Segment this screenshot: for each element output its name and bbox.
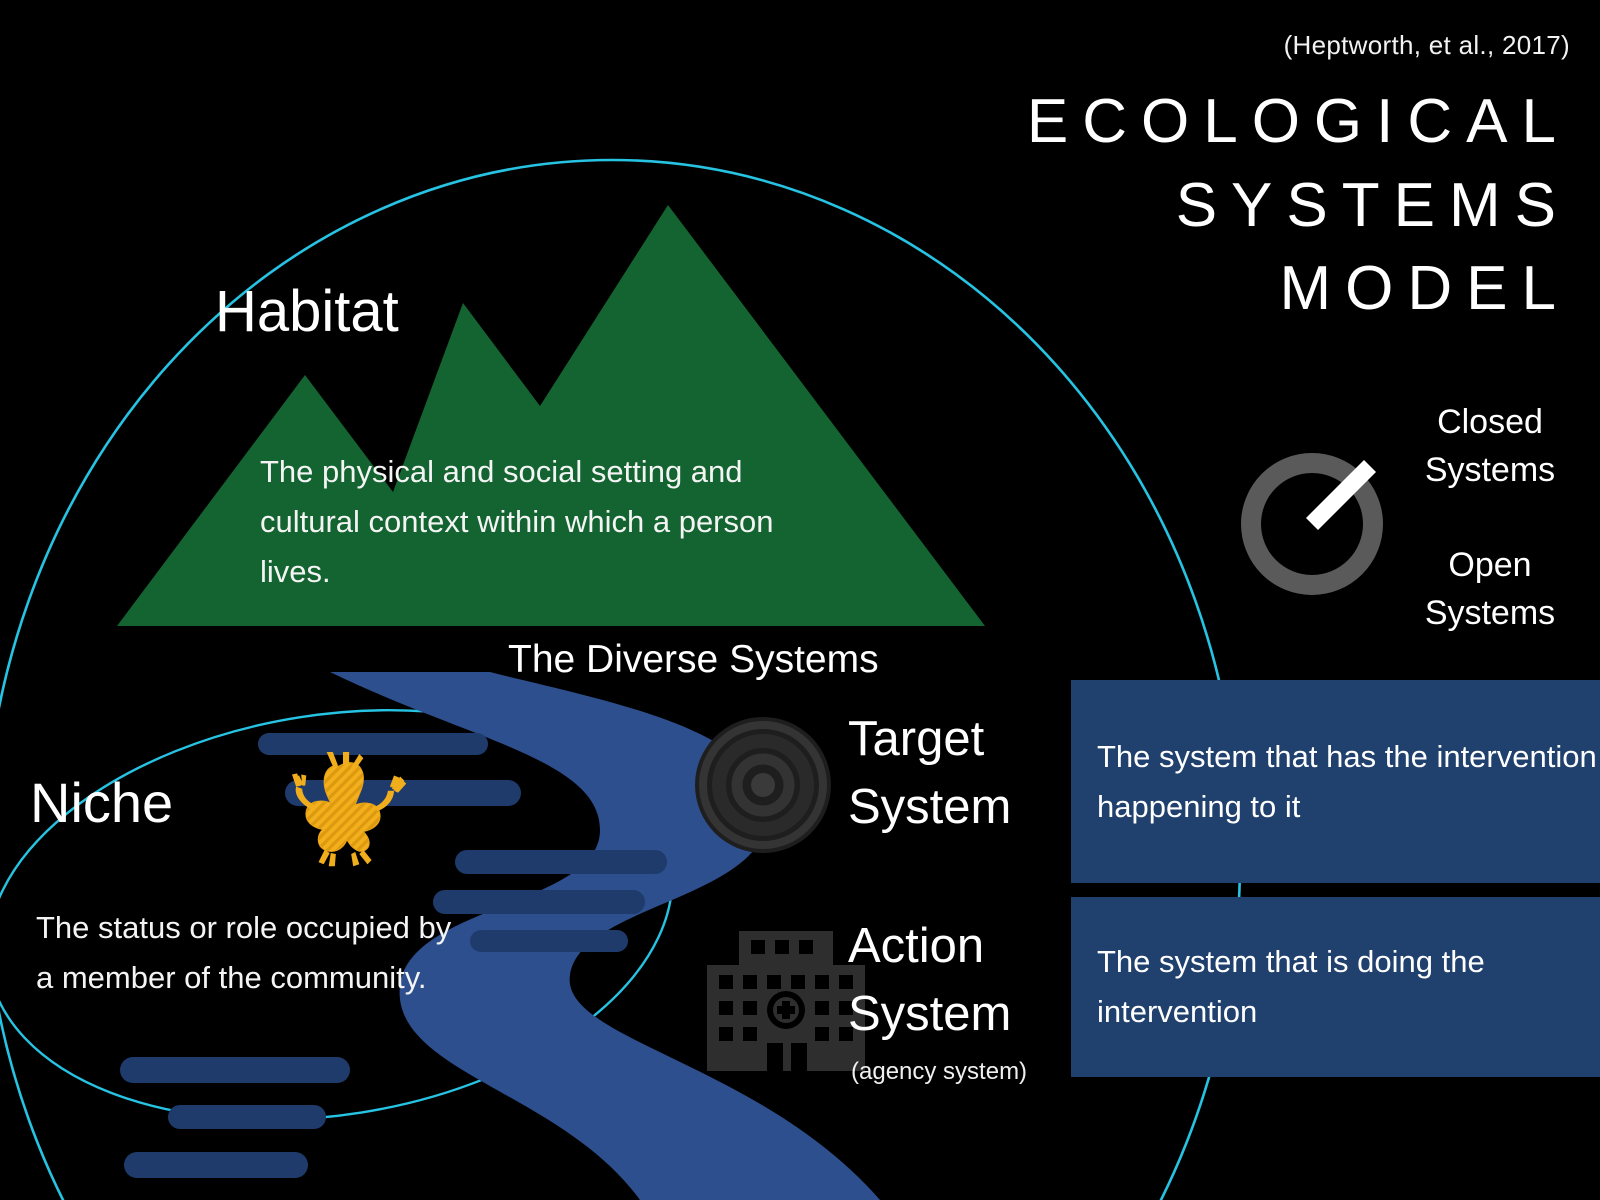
citation: (Heptworth, et al., 2017) [1284,30,1570,61]
action-system-subtitle: (agency system) [851,1058,1027,1086]
open-systems-line-1: Open [1390,541,1590,589]
action-system-name: Action System [848,913,1063,1048]
open-systems-label: Open Systems [1390,541,1590,638]
open-systems-line-2: Systems [1390,589,1590,637]
title-line-2: SYSTEMS [810,164,1570,248]
target-system-description: The system that has the intervention hap… [1071,732,1600,831]
hospital-building-icon [707,931,865,1071]
target-system-name: Target System [848,706,1063,841]
dial-label-group: Closed Systems Open Systems [1390,398,1590,637]
action-system-description-box: The system that is doing the interventio… [1071,897,1600,1077]
page-title: ECOLOGICAL SYSTEMS MODEL [810,80,1570,331]
frog-icon [292,752,406,866]
target-system-description-box: The system that has the intervention hap… [1071,680,1600,883]
closed-systems-line-2: Systems [1390,446,1590,494]
bullseye-target-icon [695,717,831,853]
habitat-label: Habitat [215,278,399,345]
infographic-canvas: (Heptworth, et al., 2017) ECOLOGICAL SYS… [0,0,1600,1200]
niche-description: The status or role occupied by a member … [36,903,456,1003]
title-line-1: ECOLOGICAL [810,80,1570,164]
action-system-description: The system that is doing the interventio… [1071,937,1600,1036]
title-line-3: MODEL [810,247,1570,331]
niche-label: Niche [30,770,173,835]
habitat-description: The physical and social setting and cult… [260,447,820,598]
closed-systems-label: Closed Systems [1390,398,1590,495]
closed-systems-line-1: Closed [1390,398,1590,446]
diverse-systems-heading: The Diverse Systems [508,638,879,682]
dial-gauge-icon [1251,463,1373,585]
